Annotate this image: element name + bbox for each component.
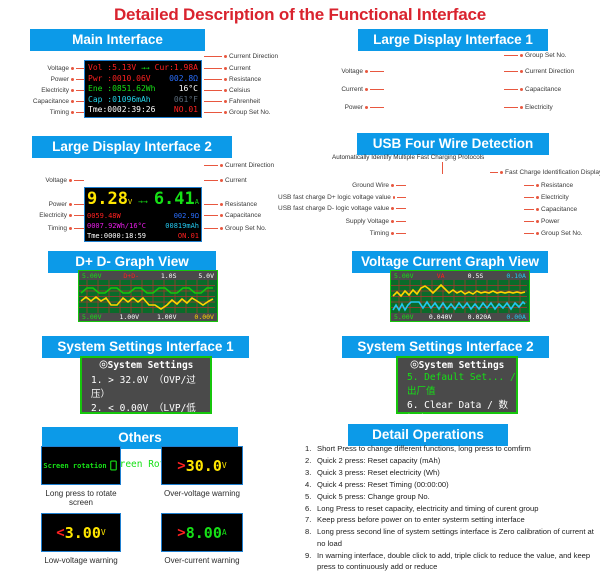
graph-ymin-left: 5.00V (82, 313, 102, 321)
leader-line (76, 90, 84, 91)
label-text: Resistance (225, 201, 257, 208)
label-electricity: Electricity (524, 194, 569, 201)
leader-dot (220, 214, 223, 217)
leader-dot (224, 111, 227, 114)
lcd-row: Vol :5.13V →→ Cur:1.98A (88, 63, 198, 74)
label-text: Power (51, 76, 69, 83)
leader-dot (520, 70, 523, 73)
label-text: Power (345, 104, 363, 111)
leader-line (204, 79, 222, 80)
lcd-row: 0007.92Wh/16°C 00819mAh (87, 221, 199, 231)
leader-line (524, 221, 534, 222)
label-text: Electricity (39, 212, 67, 219)
gear-icon-svg (99, 360, 108, 369)
leader-dot (220, 164, 223, 167)
graph-value-2: 1.00V (119, 313, 139, 321)
leader-line (396, 185, 406, 186)
graph-header: 5.00V D+D- 1.0S 5.0V (79, 271, 217, 280)
lcd-main-interface: Vol :5.13V →→ Cur:1.98A Pwr :0010.06V 00… (84, 60, 202, 118)
others-panel-low-voltage: < 3.00 V Low-voltage warning (41, 513, 121, 565)
graph-ymin-right: 0.00A (506, 313, 526, 321)
graph-series-legend: VA (437, 272, 445, 280)
graph-ymax-left: 5.00V (82, 272, 102, 280)
list-item-text: Quick 2 press: Reset capacity (mAh) (317, 456, 440, 465)
lcd-electricity: 0007.92Wh/16°C (87, 221, 146, 231)
lcd-over-voltage-warning: > 30.0 V (161, 446, 243, 485)
leader-dot (365, 106, 368, 109)
leader-dot (536, 208, 539, 211)
label-text: Capacitance (33, 98, 69, 105)
label-timing: Timing (300, 230, 406, 237)
lcd-large-display-2: 9.28V →→ 6.41A 0059.48W 002.9Ω 0007.92Wh… (84, 187, 202, 242)
label-text: Group Set No. (525, 52, 567, 59)
graph-footer: 5.00V 1.00V 1.00V 0.00V (79, 313, 217, 321)
label-text: Current (341, 86, 363, 93)
graph-ymin-left: 5.00V (394, 313, 414, 321)
label-text: Celsius (229, 87, 250, 94)
leader-line (74, 204, 84, 205)
list-item-text: Long press second line of system setting… (317, 527, 594, 547)
lcd-row: 9.28V →→ 6.41A (87, 189, 199, 211)
banner-system-settings-2: System Settings Interface 2 (342, 336, 549, 358)
lcd-capacity: Cap :01096mAh (88, 95, 151, 106)
label-text: Capacitance (525, 86, 561, 93)
label-text: Current Direction (229, 53, 278, 60)
lcd-over-current-warning: > 8.00 A (161, 513, 243, 552)
lcd-group-no: NO.01 (174, 105, 198, 116)
gear-icon-svg (410, 360, 419, 369)
leader-dot (500, 171, 503, 174)
leader-line (396, 221, 406, 222)
graph-timebase: 0.5S (468, 272, 484, 280)
others-panel-over-voltage: > 30.0 V Over-voltage warning (161, 446, 243, 498)
leader-line (204, 101, 222, 102)
leader-line (370, 107, 384, 108)
leader-dot (224, 78, 227, 81)
leader-dot (536, 196, 539, 199)
list-item: 7.Keep press before power on to enter sy… (305, 514, 600, 525)
settings-title-row: System Settings (82, 360, 210, 372)
lcd-system-settings-2: System Settings 5. Default Set... / 出厂值 … (396, 356, 518, 414)
leader-dot (224, 100, 227, 103)
screen-rotation-text: Screen rotation (43, 462, 106, 470)
section-large-display-1: Voltage Current Power 5.09 V NO.02 →→ 1.… (300, 50, 600, 128)
banner-main-interface: Main Interface (30, 29, 205, 51)
leader-dot (220, 227, 223, 230)
label-text: Timing (370, 230, 389, 237)
label-capacitance: Capacitance (0, 98, 84, 105)
label-text: Power (541, 218, 559, 225)
leader-line (204, 112, 222, 113)
lcd-voltage-value: 9.28 (87, 189, 128, 209)
lcd-row: 0059.48W 002.9Ω (87, 211, 199, 221)
leader-dot (536, 232, 539, 235)
label-capacitance: Capacitance (204, 212, 261, 219)
lcd-fahrenheit: 061°F (174, 95, 198, 106)
settings-title-text: System Settings (108, 360, 194, 371)
graph-footer: 5.00V 0.040V 0.020A 0.00A (391, 313, 529, 321)
leader-line (74, 180, 84, 181)
leader-dot (69, 227, 72, 230)
list-item-text: Quick 5 press: Change group No. (317, 492, 430, 501)
graph-waveform-svg (391, 280, 527, 313)
list-item-text: Keep press before power on to enter syst… (317, 515, 525, 524)
leader-dot (391, 220, 394, 223)
usb-subtitle: Automatically Identify Multiple Fast Cha… (332, 154, 484, 161)
label-text: Capacitance (225, 212, 261, 219)
warning-value: 30.0 (186, 457, 222, 475)
label-voltage: Voltage (300, 68, 384, 75)
label-power: Power (524, 218, 559, 225)
leader-line (204, 165, 218, 166)
label-timing: Timing (0, 109, 84, 116)
leader-dot (220, 179, 223, 182)
leader-dot (220, 203, 223, 206)
warning-sign: < (56, 525, 64, 541)
label-resistance: Resistance (204, 76, 261, 83)
caption-over-voltage: Over-voltage warning (161, 489, 243, 498)
warning-unit: A (222, 528, 227, 537)
leader-line (504, 89, 518, 90)
list-item-text: Long Press to reset capacity, electricit… (317, 504, 538, 513)
lcd-voltage-unit: V (128, 198, 132, 206)
leader-line (204, 90, 222, 91)
label-text: Fast Charge Identification Display (505, 169, 600, 176)
label-power: Power (0, 76, 84, 83)
label-text: Voltage (45, 177, 67, 184)
label-text: Capacitance (541, 206, 577, 213)
section-usb-four-wire: Automatically Identify Multiple Fast Cha… (300, 152, 600, 252)
label-dplus-logic-voltage: USB fast charge D+ logic voltage value (278, 194, 406, 201)
label-fahrenheit: Fahrenheit (204, 98, 260, 105)
list-item-text: In warning interface, double click to ad… (317, 551, 590, 571)
leader-line (504, 71, 518, 72)
leader-line (74, 228, 84, 229)
label-electricity: Electricity (0, 212, 84, 219)
graph-ymax-right: 0.10A (506, 272, 526, 280)
leader-line (76, 68, 84, 69)
label-text: Electricity (41, 87, 69, 94)
page-title: Detailed Description of the Functional I… (0, 0, 600, 25)
lcd-group-no: ON.01 (178, 231, 199, 241)
leader-line (524, 197, 534, 198)
warning-unit: V (101, 528, 106, 537)
graph-ymin-right: 0.00V (194, 313, 214, 321)
label-supply-voltage: Supply Voltage (300, 218, 406, 225)
leader-line (204, 228, 218, 229)
warning-value: 3.00 (65, 524, 101, 542)
graph-series-legend: D+D- (123, 272, 139, 280)
settings-item[interactable]: 1. > 32.0V （OVP/过压） (82, 372, 210, 400)
label-text: Timing (50, 109, 69, 116)
graph-header: 5.00V VA 0.5S 0.10A (391, 271, 529, 280)
leader-dot (71, 89, 74, 92)
lcd-energy: Ene :0851.62Wh (88, 84, 155, 95)
list-item: 8.Long press second line of system setti… (305, 526, 600, 549)
settings-item-selected[interactable]: 5. Default Set... / 出厂值 (398, 372, 516, 397)
label-text: Voltage (47, 65, 69, 72)
label-text: Supply Voltage (346, 218, 389, 225)
leader-dot (224, 67, 227, 70)
label-group-set-no: Group Set No. (204, 225, 267, 232)
leader-line (442, 162, 443, 174)
leader-dot (536, 184, 539, 187)
label-text: Resistance (229, 76, 261, 83)
lcd-system-settings-1: System Settings 1. > 32.0V （OVP/过压） 2. <… (80, 356, 212, 414)
lcd-row: Cap :01096mAh 061°F (88, 95, 198, 106)
label-current-direction: Current Direction (504, 68, 574, 75)
lcd-voltage-current-graph: 5.00V VA 0.5S 0.10A 5.00V 0.040V 0.020A … (390, 270, 530, 322)
label-group-set-no: Group Set No. (524, 230, 583, 237)
leader-line (504, 107, 518, 108)
warning-sign: > (177, 525, 185, 541)
label-capacitance: Capacitance (504, 86, 561, 93)
lcd-celsius: 16°C (179, 84, 198, 95)
lcd-screen-rotation: Screen rotation (41, 446, 121, 485)
current-direction-arrow-icon: →→ (141, 63, 149, 74)
banner-system-settings-1: System Settings Interface 1 (42, 336, 249, 358)
leader-line (370, 71, 384, 72)
current-direction-arrow-icon: →→ (138, 197, 148, 206)
label-current: Current (204, 65, 251, 72)
label-text: Group Set No. (225, 225, 267, 232)
label-text: USB fast charge D- logic voltage value (278, 205, 389, 212)
lcd-row: Tme:0000:18:59 ON.01 (87, 231, 199, 241)
lcd-row: Pwr :0010.06V 002.8Ω (88, 74, 198, 85)
leader-dot (71, 67, 74, 70)
graph-ymax-right: 5.0V (198, 272, 214, 280)
graph-value-3: 0.020A (468, 313, 491, 321)
leader-dot (69, 203, 72, 206)
leader-line (397, 197, 406, 198)
list-item-text: Quick 3 press: Reset electricity (Wh) (317, 468, 440, 477)
rotate-icon (108, 456, 119, 475)
settings-item[interactable]: 2. < 0.00V （LVP/低压） (82, 400, 210, 428)
banner-large-display-1: Large Display Interface 1 (358, 29, 548, 51)
lcd-power: Pwr :0010.06V (88, 74, 151, 85)
leader-line (524, 209, 534, 210)
leader-line (490, 172, 498, 173)
leader-line (204, 56, 222, 57)
caption-low-voltage: Low-voltage warning (41, 556, 121, 565)
label-dminus-logic-voltage: USB fast charge D- logic voltage value (278, 205, 406, 212)
label-voltage: Voltage (0, 177, 84, 184)
leader-dot (71, 100, 74, 103)
label-voltage: Voltage (0, 65, 84, 72)
label-electricity: Electricity (504, 104, 553, 111)
label-text: Group Set No. (229, 109, 271, 116)
leader-dot (224, 55, 227, 58)
graph-waveform-svg (79, 280, 215, 313)
leader-dot (520, 88, 523, 91)
leader-dot (391, 232, 394, 235)
leader-line (524, 185, 534, 186)
label-text: Electricity (541, 194, 569, 201)
lcd-current: Cur:1.98A (155, 63, 198, 74)
detail-operations-list: 1.Short Press to change different functi… (305, 443, 600, 573)
label-fast-charge-identification: Fast Charge Identification Display (490, 169, 600, 176)
leader-dot (71, 78, 74, 81)
leader-line (76, 101, 84, 102)
warning-value: 8.00 (186, 524, 222, 542)
label-current-direction: Current Direction (204, 162, 274, 169)
gear-icon (99, 360, 108, 372)
label-text: Group Set No. (541, 230, 583, 237)
label-ground-wire: Ground Wire (300, 182, 406, 189)
label-current: Current (204, 177, 247, 184)
label-power: Power (0, 201, 84, 208)
lcd-dp-dm-graph: 5.00V D+D- 1.0S 5.0V 5.00V 1.00V 1.00V 0… (78, 270, 218, 322)
label-text: Power (49, 201, 67, 208)
section-large-display-2: Voltage Power Electricity Timing 9.28V →… (0, 155, 300, 245)
leader-dot (365, 70, 368, 73)
lcd-current-value: 6.41 (154, 189, 195, 209)
caption-screen-rotation: Long press to rotate screen (41, 489, 121, 507)
warning-sign: > (177, 458, 185, 474)
settings-title-text: System Settings (419, 360, 505, 371)
label-text: USB fast charge D+ logic voltage value (278, 194, 391, 201)
label-timing: Timing (0, 225, 84, 232)
lcd-capacity: 00819mAh (165, 221, 199, 231)
label-text: Current (229, 65, 251, 72)
label-current-direction: Current Direction (204, 53, 278, 60)
label-text: Current Direction (525, 68, 574, 75)
list-item: 3.Quick 3 press: Reset electricity (Wh) (305, 467, 600, 478)
label-current: Current (300, 86, 384, 93)
lcd-power: 0059.48W (87, 211, 121, 221)
list-item: 4.Quick 4 press: Reset Timing (00:00:00) (305, 479, 600, 490)
label-celsius: Celsius (204, 87, 250, 94)
leader-dot (71, 111, 74, 114)
leader-line (204, 215, 218, 216)
label-text: Timing (48, 225, 67, 232)
rotate-icon-svg (108, 460, 119, 471)
warning-unit: V (222, 461, 227, 470)
graph-value-2: 0.040V (429, 313, 452, 321)
leader-line (396, 233, 406, 234)
label-text: Resistance (541, 182, 573, 189)
list-item: 9.In warning interface, double click to … (305, 550, 600, 573)
list-item: 5.Quick 5 press: Change group No. (305, 491, 600, 502)
label-capacitance: Capacitance (524, 206, 577, 213)
others-panel-over-current: > 8.00 A Over-current warning (161, 513, 243, 565)
gear-icon (410, 360, 419, 372)
list-item-text: Short Press to change different function… (317, 444, 531, 453)
label-power: Power (300, 104, 384, 111)
label-text: Ground Wire (352, 182, 389, 189)
lcd-resistance: 002.9Ω (174, 211, 199, 221)
label-resistance: Resistance (204, 201, 257, 208)
settings-title-row: System Settings (398, 360, 516, 372)
leader-dot (536, 220, 539, 223)
leader-dot (224, 89, 227, 92)
label-resistance: Resistance (524, 182, 573, 189)
list-item: 6.Long Press to reset capacity, electric… (305, 503, 600, 514)
lcd-low-voltage-warning: < 3.00 V (41, 513, 121, 552)
graph-plot-area (79, 280, 217, 313)
leader-line (76, 79, 84, 80)
list-item-text: Quick 4 press: Reset Timing (00:00:00) (317, 480, 449, 489)
leader-line (396, 208, 406, 209)
graph-value-3: 1.00V (157, 313, 177, 321)
label-text: Current (225, 177, 247, 184)
label-text: Voltage (341, 68, 363, 75)
lcd-timing: Tme:0002:39:26 (88, 105, 155, 116)
section-main-interface: Voltage Power Electricity Capacitance Ti… (0, 50, 300, 128)
leader-dot (365, 88, 368, 91)
lcd-voltage: Vol :5.13V (88, 63, 136, 74)
leader-line (204, 204, 218, 205)
graph-timebase: 1.0S (161, 272, 177, 280)
leader-line (524, 233, 534, 234)
settings-item[interactable]: 6. Clear Data / 数据清零 (398, 397, 516, 425)
lcd-resistance: 002.8Ω (169, 74, 198, 85)
lcd-current-unit: A (195, 198, 199, 206)
list-item: 2.Quick 2 press: Reset capacity (mAh) (305, 455, 600, 466)
leader-dot (391, 184, 394, 187)
label-text: Fahrenheit (229, 98, 260, 105)
list-item: 1.Short Press to change different functi… (305, 443, 600, 454)
label-group-set-no: Group Set No. (204, 109, 271, 116)
lcd-timing: Tme:0000:18:59 (87, 231, 146, 241)
label-group-set-no: Group Set No. (504, 52, 567, 59)
leader-line (76, 112, 84, 113)
leader-dot (69, 179, 72, 182)
leader-line (370, 89, 384, 90)
label-electricity: Electricity (0, 87, 84, 94)
label-text: Current Direction (225, 162, 274, 169)
leader-dot (69, 214, 72, 217)
leader-dot (391, 207, 394, 210)
lcd-row: Tme:0002:39:26 NO.01 (88, 105, 198, 116)
leader-line (74, 215, 84, 216)
label-text: Electricity (525, 104, 553, 111)
graph-plot-area (391, 280, 529, 313)
others-panel-screen-rotation: Screen rotation Long press to rotate scr… (41, 446, 121, 507)
caption-over-current: Over-current warning (161, 556, 243, 565)
leader-line (204, 180, 218, 181)
leader-dot (520, 106, 523, 109)
lcd-row: Ene :0851.62Wh 16°C (88, 84, 198, 95)
leader-line (204, 68, 222, 69)
leader-line (504, 55, 518, 56)
leader-dot (393, 196, 396, 199)
graph-ymax-left: 5.00V (394, 272, 414, 280)
leader-dot (520, 54, 523, 57)
